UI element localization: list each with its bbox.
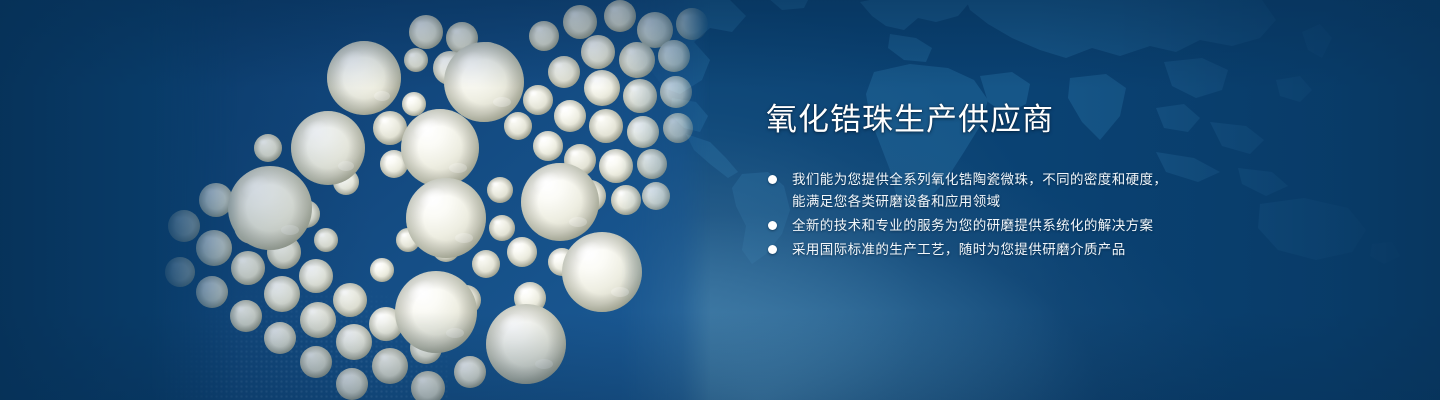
hero-banner: 氧化锆珠生产供应商 我们能为您提供全系列氧化锆陶瓷微珠，不同的密度和硬度， 能满… <box>0 0 1440 400</box>
page-title: 氧化锆珠生产供应商 <box>766 104 1324 135</box>
list-item: 采用国际标准的生产工艺，随时为您提供研磨介质产品 <box>764 239 1324 261</box>
list-item-line-1: 采用国际标准的生产工艺，随时为您提供研磨介质产品 <box>792 242 1126 257</box>
bullet-dot-icon <box>768 175 777 184</box>
list-item: 我们能为您提供全系列氧化锆陶瓷微珠，不同的密度和硬度， 能满足您各类研磨设备和应… <box>764 169 1324 213</box>
banner-content: 氧化锆珠生产供应商 我们能为您提供全系列氧化锆陶瓷微珠，不同的密度和硬度， 能满… <box>764 104 1324 263</box>
list-item-line-1: 我们能为您提供全系列氧化锆陶瓷微珠，不同的密度和硬度， <box>792 172 1167 187</box>
list-item-line-2: 能满足您各类研磨设备和应用领域 <box>792 191 1324 213</box>
list-item-line-1: 全新的技术和专业的服务为您的研磨提供系统化的解决方案 <box>792 218 1153 233</box>
bullet-dot-icon <box>768 245 777 254</box>
bullet-dot-icon <box>768 221 777 230</box>
list-item: 全新的技术和专业的服务为您的研磨提供系统化的解决方案 <box>764 215 1324 237</box>
feature-list: 我们能为您提供全系列氧化锆陶瓷微珠，不同的密度和硬度， 能满足您各类研磨设备和应… <box>764 169 1324 261</box>
